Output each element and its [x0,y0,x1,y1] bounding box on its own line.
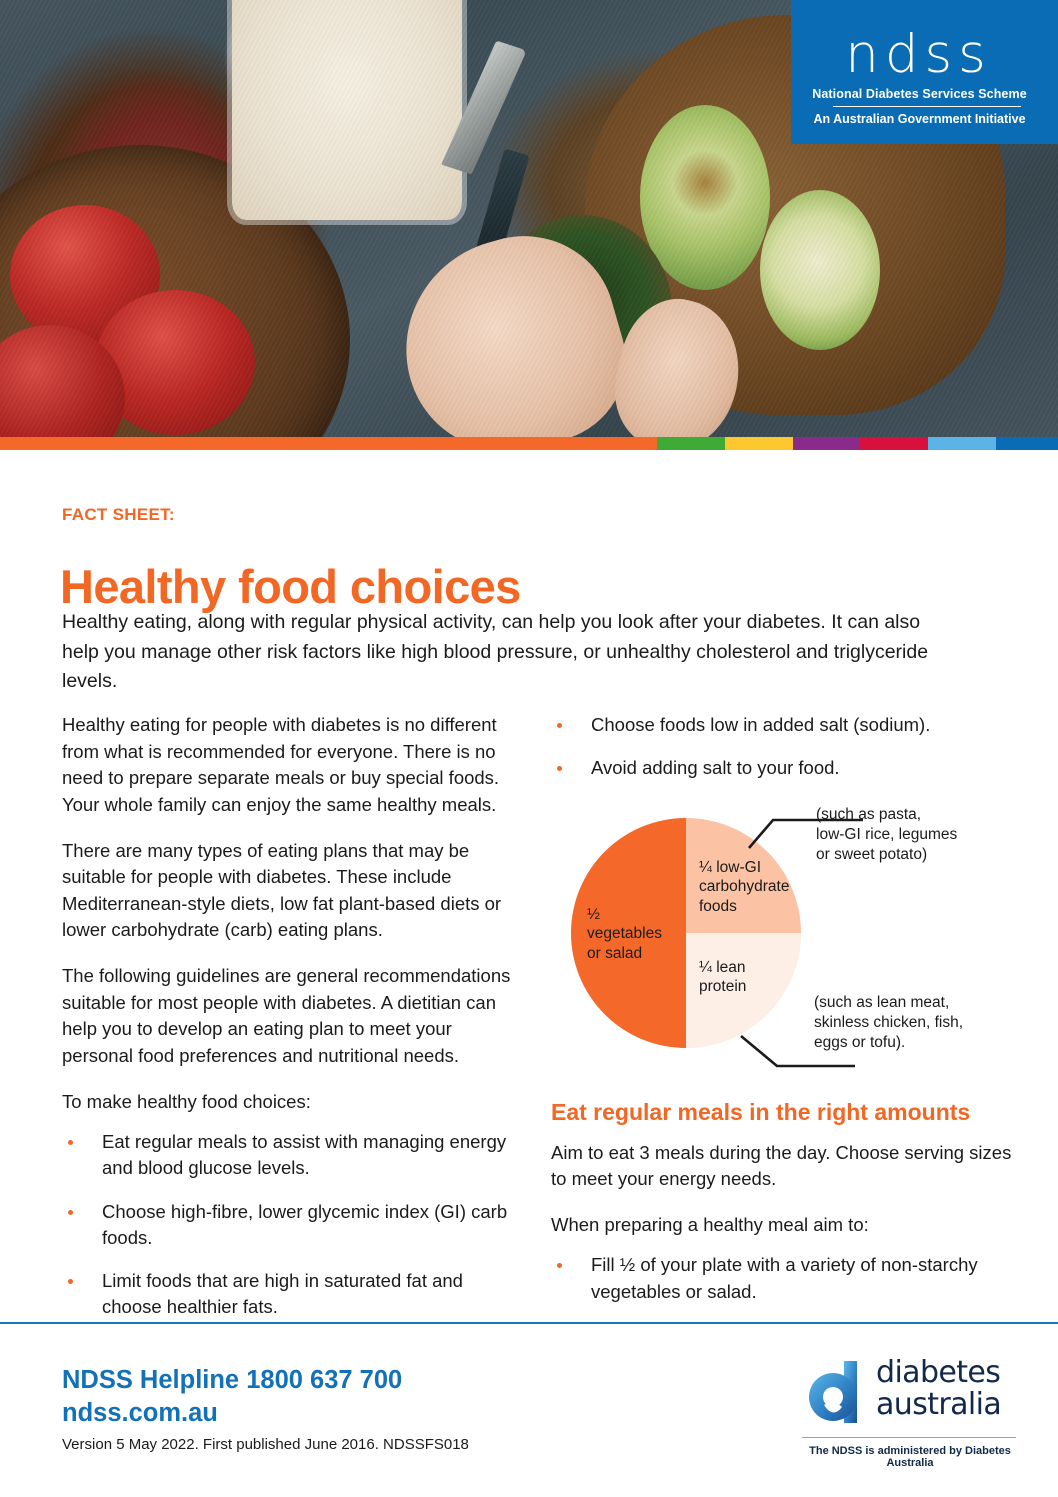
list-item: Choose foods low in added salt (sodium). [551,712,1021,738]
ndss-logo-divider [833,106,1021,107]
website-link[interactable]: ndss.com.au [62,1397,402,1430]
pie-label-carbohydrate: ¼ low-GI carbohydrate foods [699,858,801,917]
callout-line: eggs or tofu). [814,1033,1019,1053]
avocado-icon [640,105,770,290]
callout-carbohydrate-examples: (such as pasta, low-GI rice, legumes or … [816,805,1016,866]
meal-preparation-list: Fill ½ of your plate with a variety of n… [551,1252,1021,1305]
pie-label-vegetables: ½ vegetables or salad [587,905,675,964]
colour-bar-segment-light-blue [928,437,996,450]
milk-jug-icon [232,0,462,220]
diabetes-australia-logo: diabetes australia The NDSS is administe… [800,1351,1018,1471]
section-heading-eat-regular-meals: Eat regular meals in the right amounts [551,1098,1021,1126]
diabetes-australia-divider [802,1437,1016,1438]
list-item: Avoid adding salt to your food. [551,755,1021,781]
ndss-logo-tagline: An Australian Government Initiative [791,112,1048,126]
apple-icon [95,290,255,435]
spinach-bowl-icon [492,215,672,405]
paragraph: There are many types of eating plans tha… [62,838,524,945]
apple-icon [0,325,125,437]
pie-label-line: ¼ lean [699,958,791,978]
hero-photo-banner: ndss National Diabetes Services Scheme A… [0,0,1058,437]
diabetes-australia-mark-icon [800,1359,866,1425]
wordmark-line-australia: australia [876,1389,1001,1421]
pie-label-line: foods [699,897,801,917]
paragraph: Aim to eat 3 meals during the day. Choos… [551,1140,1021,1193]
apple-icon [10,205,160,345]
pie-label-protein: ¼ lean protein [699,958,791,998]
pie-label-line: vegetables [587,924,675,944]
colour-bar-segment-yellow [725,437,793,450]
knife-handle-icon [474,149,529,262]
knife-icon [441,41,527,175]
page-title: Healthy food choices [60,560,521,614]
version-text: Version 5 May 2022. First published June… [62,1436,469,1453]
hand-icon [380,214,645,437]
fact-sheet-kicker: FACT SHEET: [62,505,175,525]
colour-bar-segment-dark-blue [996,437,1058,450]
callout-line: (such as pasta, [816,805,1016,825]
pie-label-line: protein [699,977,791,997]
paragraph: When preparing a healthy meal aim to: [551,1212,1021,1239]
intro-paragraph: Healthy eating, along with regular physi… [62,608,962,697]
pie-label-line: ¼ low-GI [699,858,801,878]
salt-advice-list: Choose foods low in added salt (sodium).… [551,712,1021,782]
colour-bar-segment-orange [0,437,657,450]
list-item: Eat regular meals to assist with managin… [62,1129,524,1182]
ndss-helpline-block[interactable]: NDSS Helpline 1800 637 700 ndss.com.au [62,1364,402,1430]
hand-icon [602,288,755,437]
list-intro: To make healthy food choices: [62,1089,524,1116]
colour-bar-segment-purple [793,437,860,450]
healthy-plate-pie-chart: ½ vegetables or salad ¼ low-GI carbohydr… [551,800,1021,1090]
callout-protein-examples: (such as lean meat, skinless chicken, fi… [814,993,1019,1054]
pie-label-line: or salad [587,944,675,964]
paragraph: The following guidelines are general rec… [62,963,524,1070]
wooden-bowl-icon [0,145,350,437]
right-column: Choose foods low in added salt (sodium).… [551,712,1021,1305]
administered-by-note: The NDSS is administered by Diabetes Aus… [802,1445,1018,1469]
fact-sheet-page: ndss National Diabetes Services Scheme A… [0,0,1058,1497]
paragraph: Healthy eating for people with diabetes … [62,712,524,819]
callout-line: low-GI rice, legumes [816,825,1016,845]
ndss-logo-subtitle: National Diabetes Services Scheme [791,87,1048,101]
list-item: Choose high-fibre, lower glycemic index … [62,1199,524,1252]
ndss-logo: ndss National Diabetes Services Scheme A… [791,0,1058,144]
callout-line: (such as lean meat, [814,993,1019,1013]
callout-line: or sweet potato) [816,845,1016,865]
colour-bar-segment-red [860,437,928,450]
list-item: Fill ½ of your plate with a variety of n… [551,1252,1021,1305]
left-column: Healthy eating for people with diabetes … [62,712,524,1364]
helpline-number[interactable]: NDSS Helpline 1800 637 700 [62,1364,402,1397]
diabetes-australia-wordmark: diabetes australia [876,1357,1001,1422]
brand-colour-bar [0,437,1058,450]
avocado-icon [760,190,880,350]
pie-label-line: ½ [587,905,675,925]
callout-line: skinless chicken, fish, [814,1013,1019,1033]
ndss-wordmark: ndss [791,28,1046,81]
page-footer: NDSS Helpline 1800 637 700 ndss.com.au V… [0,1324,1058,1497]
colour-bar-segment-green [657,437,725,450]
wordmark-line-diabetes: diabetes [876,1357,1001,1389]
pie-label-line: carbohydrate [699,877,801,897]
list-item: Limit foods that are high in saturated f… [62,1268,524,1321]
